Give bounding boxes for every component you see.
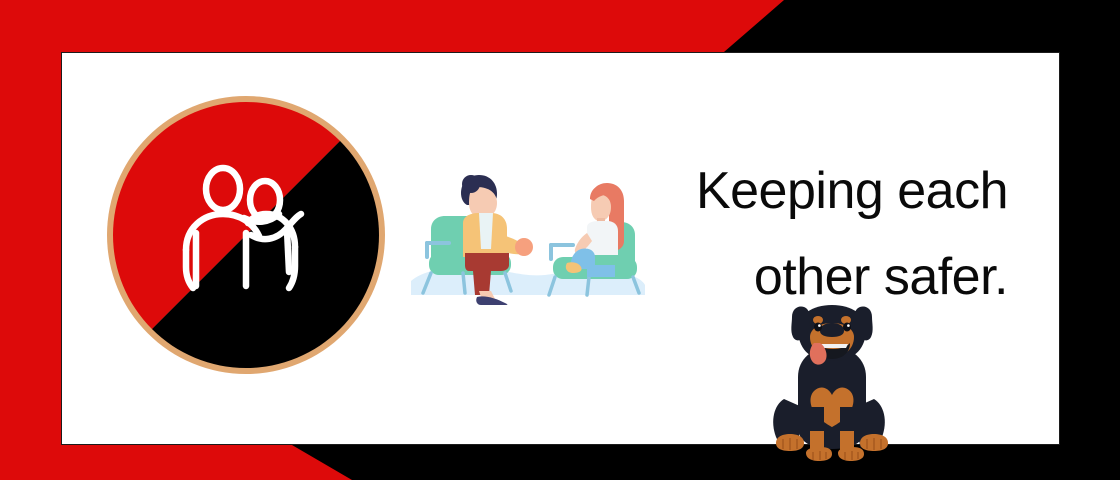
- organization-emblem: [101, 90, 391, 380]
- left-red-column: [0, 0, 61, 480]
- bottom-red-band: [0, 445, 352, 480]
- rottweiler-dog-sitting: [773, 305, 888, 461]
- dog-illustration: [762, 303, 902, 469]
- headline-text: Keeping each other safer.: [600, 148, 1008, 320]
- safety-banner: Keeping each other safer.: [0, 0, 1120, 480]
- top-red-band: [0, 0, 784, 52]
